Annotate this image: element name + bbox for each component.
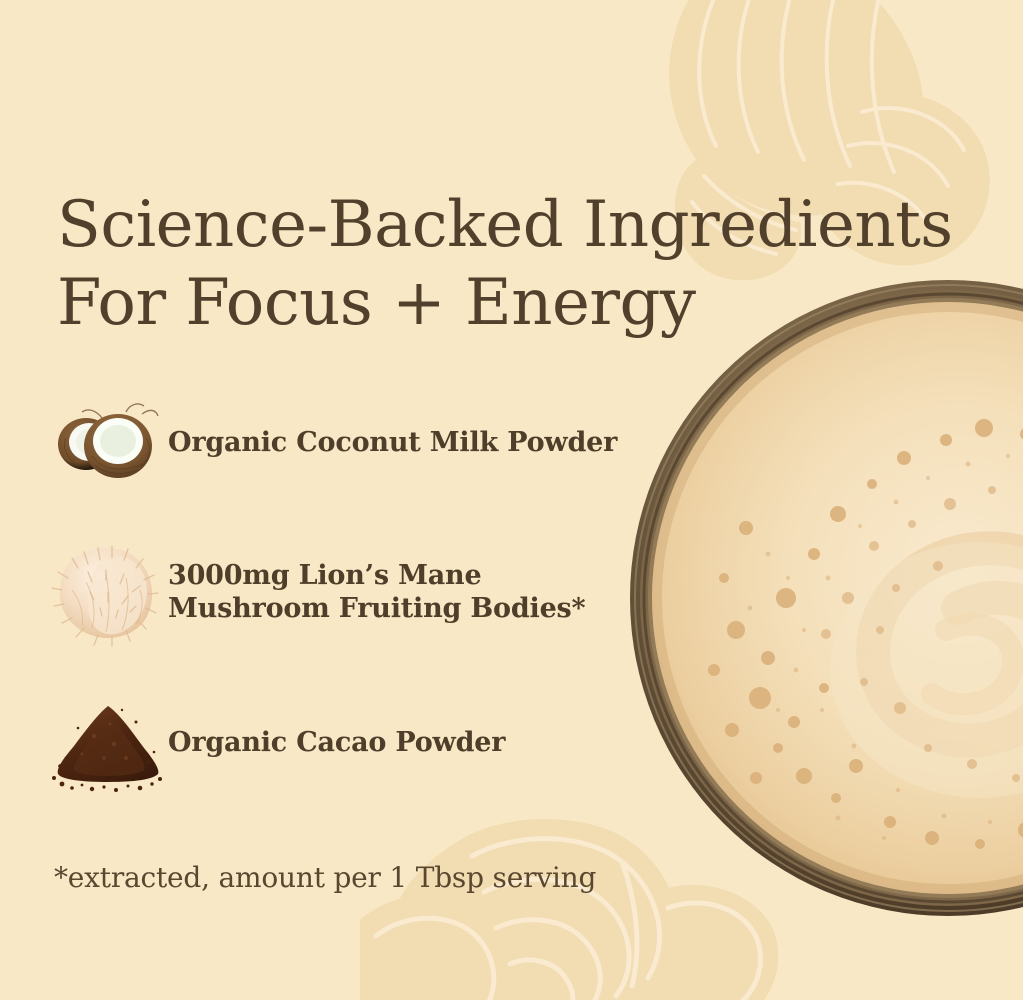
- cacao-powder-icon: [48, 688, 168, 798]
- lions-mane-mushroom-icon: [48, 538, 168, 648]
- ingredient-label: Organic Cacao Powder: [168, 727, 505, 760]
- coconut-icon: [48, 388, 168, 498]
- ingredient-label: Organic Coconut Milk Powder: [168, 427, 617, 460]
- abstract-bloom-watermark: [360, 800, 780, 1000]
- ingredients-panel: Science-Backed Ingredients For Focus + E…: [0, 0, 1023, 1000]
- ingredient-label: 3000mg Lion’s Mane Mushroom Fruiting Bod…: [168, 560, 585, 626]
- latte-bowl-photo: [628, 278, 1023, 918]
- list-item: 3000mg Lion’s Mane Mushroom Fruiting Bod…: [48, 518, 658, 668]
- ingredient-list: Organic Coconut Milk Powder: [48, 368, 658, 818]
- list-item: Organic Coconut Milk Powder: [48, 368, 658, 518]
- list-item: Organic Cacao Powder: [48, 668, 658, 818]
- footnote-text: *extracted, amount per 1 Tbsp serving: [54, 861, 596, 894]
